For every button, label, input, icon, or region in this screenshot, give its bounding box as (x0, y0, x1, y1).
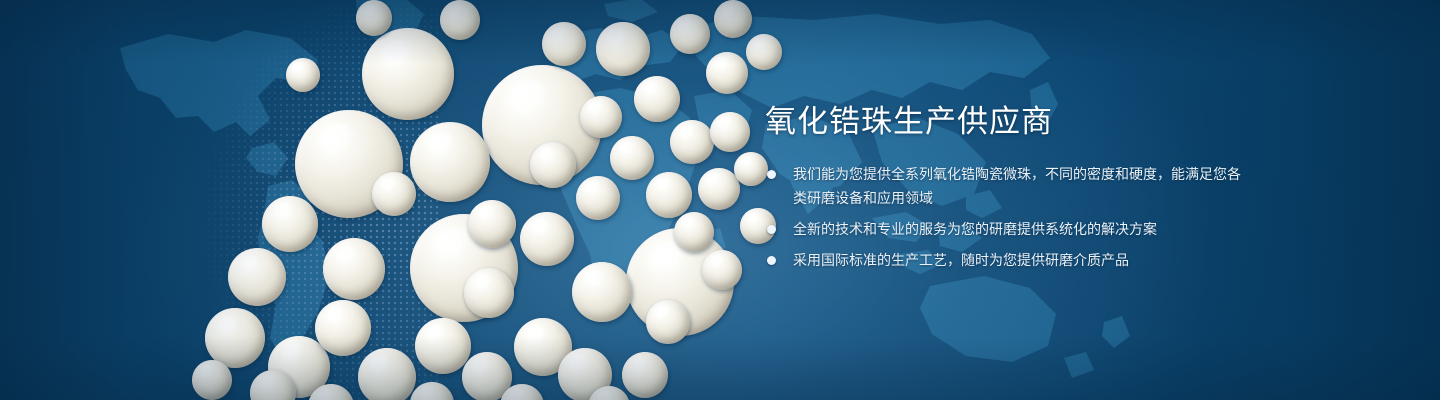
bullet-item: 全新的技术和专业的服务为您的研磨提供系统化的解决方案 (765, 217, 1245, 241)
hero-banner: 氧化锆珠生产供应商 我们能为您提供全系列氧化锆陶瓷微珠，不同的密度和硬度，能满足… (0, 0, 1440, 400)
bullet-item: 采用国际标准的生产工艺，随时为您提供研磨介质产品 (765, 248, 1245, 272)
bullet-dot-icon (767, 256, 776, 265)
banner-bullet-list: 我们能为您提供全系列氧化锆陶瓷微珠，不同的密度和硬度，能满足您各类研磨设备和应用… (765, 162, 1245, 272)
bullet-item: 我们能为您提供全系列氧化锆陶瓷微珠，不同的密度和硬度，能满足您各类研磨设备和应用… (765, 162, 1245, 210)
bullet-text: 我们能为您提供全系列氧化锆陶瓷微珠，不同的密度和硬度，能满足您各类研磨设备和应用… (793, 166, 1241, 206)
banner-headline: 氧化锆珠生产供应商 (765, 104, 1245, 140)
bullet-dot-icon (767, 225, 776, 234)
bullet-text: 采用国际标准的生产工艺，随时为您提供研磨介质产品 (793, 252, 1129, 268)
bullet-text: 全新的技术和专业的服务为您的研磨提供系统化的解决方案 (793, 221, 1157, 237)
banner-copy: 氧化锆珠生产供应商 我们能为您提供全系列氧化锆陶瓷微珠，不同的密度和硬度，能满足… (765, 104, 1245, 272)
bullet-dot-icon (767, 170, 776, 179)
